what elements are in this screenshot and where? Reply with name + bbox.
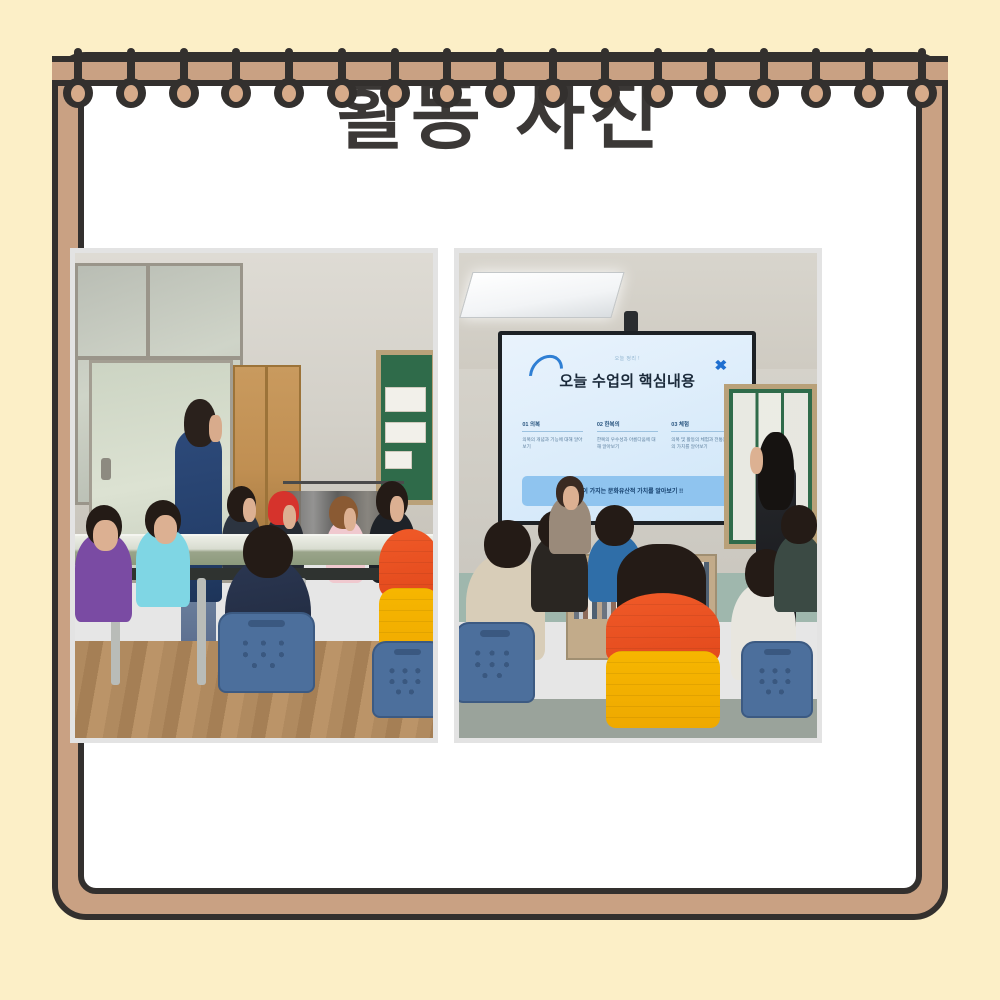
student-head [595,505,634,546]
slide-column-body: 의복의 개념과 기능에 대해 알아보기 [522,432,583,451]
chair-handle [764,649,791,656]
slide-columns: 01 의복 의복의 개념과 기능에 대해 알아보기 02 한복의 한복의 우수성… [522,420,732,451]
spiral-binding-bar [52,56,948,86]
student-figure [774,534,817,612]
photo-left[interactable] [70,248,438,743]
student-head [484,520,531,569]
classroom-chair [741,641,813,718]
chair-vent-holes [237,637,297,671]
presentation-slide: 오늘 정리 ! ✖ 오늘 수업의 핵심내용 01 의복 의복의 개념과 기능에 … [502,335,752,521]
tv-mount-bracket [624,311,638,333]
photo-gallery: 오늘 정리 ! ✖ 오늘 수업의 핵심내용 01 의복 의복의 개념과 기능에 … [70,248,822,743]
student-face [154,515,178,544]
chair-handle [248,620,285,627]
slide-column-heading: 01 의복 [522,420,583,432]
slide-column: 02 한복의 한복의 우수성과 아름다움에 대해 알아보기 [597,420,658,451]
classroom-chair [218,612,315,694]
door-handle-icon [101,458,111,480]
slide-title: 오늘 수업의 핵심내용 [502,370,752,391]
presenter-hair [758,432,794,510]
student-face [344,508,356,531]
slide-column: 01 의복 의복의 개념과 기능에 대해 알아보기 [522,420,583,451]
slide-column-heading: 02 한복의 [597,420,658,432]
wall-mounted-display: 오늘 정리 ! ✖ 오늘 수업의 핵심내용 01 의복 의복의 개념과 기능에 … [498,331,756,525]
student-face [563,486,579,510]
board-notice [385,422,427,443]
student-head [243,525,293,578]
presenter-face [750,447,763,474]
student-face [390,496,404,522]
classroom-chair [372,641,433,718]
student-face [283,505,296,529]
board-notice [385,451,412,469]
slide-cta-banner: 의복이 가지는 문화유산적 가치를 알아보기 !! [522,476,732,506]
chair-vent-holes [471,647,519,681]
chair-vent-holes [386,665,430,697]
teacher-face [209,415,222,442]
board-notice [385,387,427,412]
slide-column-body: 한복의 우수성과 아름다움에 대해 알아보기 [597,432,658,451]
chair-vent-holes [756,665,800,697]
student-head [781,505,817,544]
chair-handle [480,630,510,637]
photo-left-scene [75,253,433,738]
student-yellow-puffer [606,651,721,729]
page-title: 활동 사진 [0,78,1000,154]
fluorescent-light-icon [460,272,625,318]
photo-right[interactable]: 오늘 정리 ! ✖ 오늘 수업의 핵심내용 01 의복 의복의 개념과 기능에 … [454,248,822,743]
desk-leg [197,578,206,685]
student-face [93,520,118,552]
photo-right-scene: 오늘 정리 ! ✖ 오늘 수업의 핵심내용 01 의복 의복의 개념과 기능에 … [459,253,817,738]
classroom-chair [459,622,535,704]
student-face [243,498,256,522]
chair-handle [394,649,421,656]
